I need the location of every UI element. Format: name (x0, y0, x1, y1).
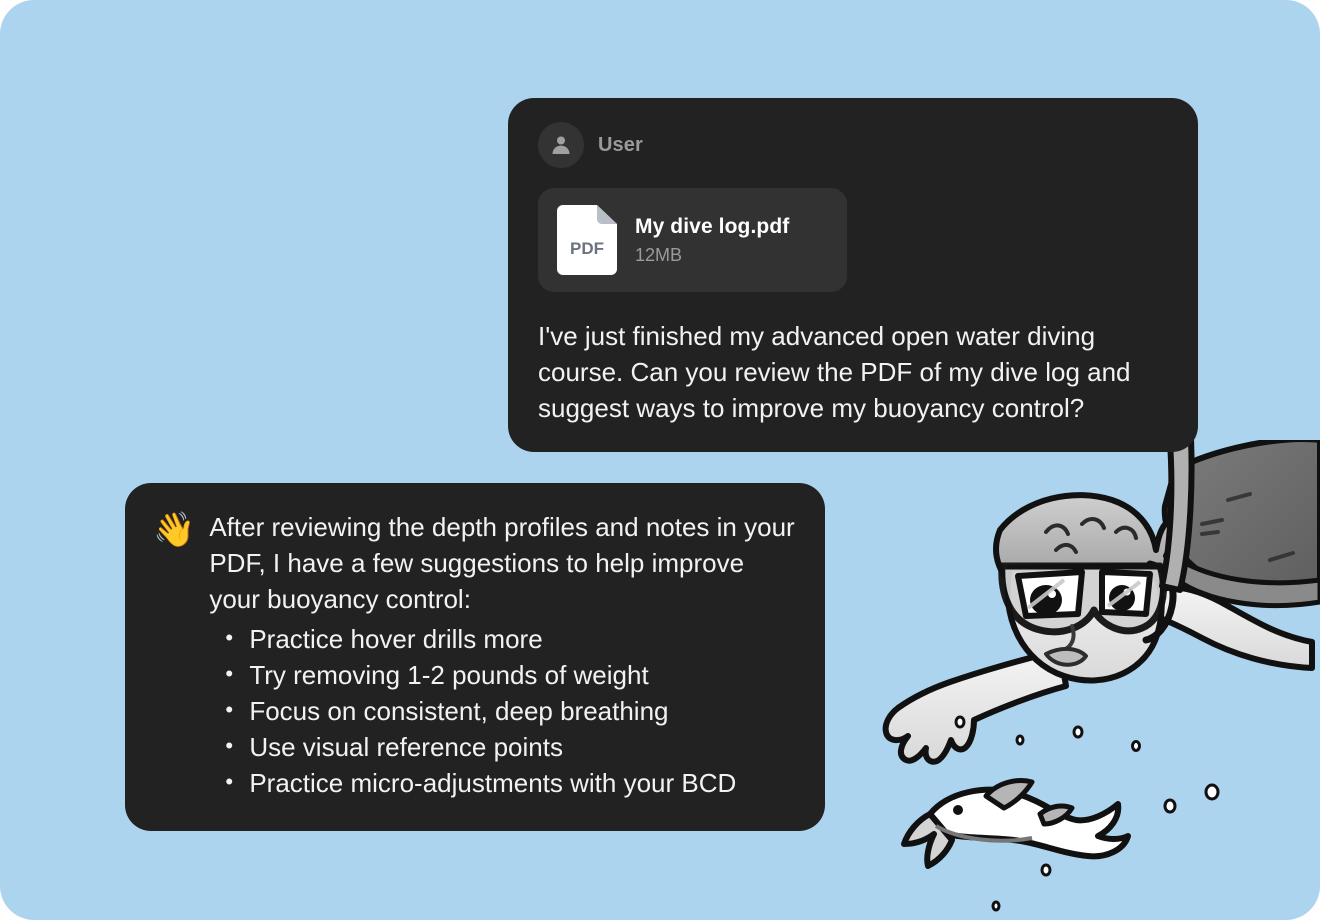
list-item: Focus on consistent, deep breathing (247, 693, 795, 729)
attachment-name: My dive log.pdf (635, 215, 789, 239)
list-item: Try removing 1-2 pounds of weight (247, 657, 795, 693)
list-item: Practice micro-adjustments with your BCD (247, 765, 795, 801)
user-message-bubble: User PDF My dive log.pdf 12MB I've just … (508, 98, 1198, 452)
snorkeler-illustration (850, 440, 1320, 920)
chat-canvas: User PDF My dive log.pdf 12MB I've just … (0, 0, 1320, 920)
message-author-label: User (598, 134, 643, 157)
avatar (538, 122, 584, 168)
assistant-message-body: 👋 After reviewing the depth profiles and… (153, 509, 795, 801)
waving-hand-emoji: 👋 (153, 511, 195, 549)
assistant-intro-text: After reviewing the depth profiles and n… (209, 509, 795, 617)
pdf-file-icon: PDF (557, 205, 617, 275)
user-message-text: I've just finished my advanced open wate… (538, 318, 1168, 426)
attachment-size: 12MB (635, 245, 789, 266)
assistant-message-bubble: 👋 After reviewing the depth profiles and… (125, 483, 825, 831)
suggestion-list: Practice hover drills more Try removing … (209, 621, 795, 801)
person-avatar-icon (549, 133, 573, 157)
list-item: Use visual reference points (247, 729, 795, 765)
user-message-header: User (538, 122, 1168, 168)
pdf-icon-label: PDF (570, 239, 604, 258)
list-item: Practice hover drills more (247, 621, 795, 657)
attachment-meta: My dive log.pdf 12MB (635, 215, 789, 266)
attachment-card[interactable]: PDF My dive log.pdf 12MB (538, 188, 847, 292)
assistant-text-column: After reviewing the depth profiles and n… (209, 509, 795, 801)
